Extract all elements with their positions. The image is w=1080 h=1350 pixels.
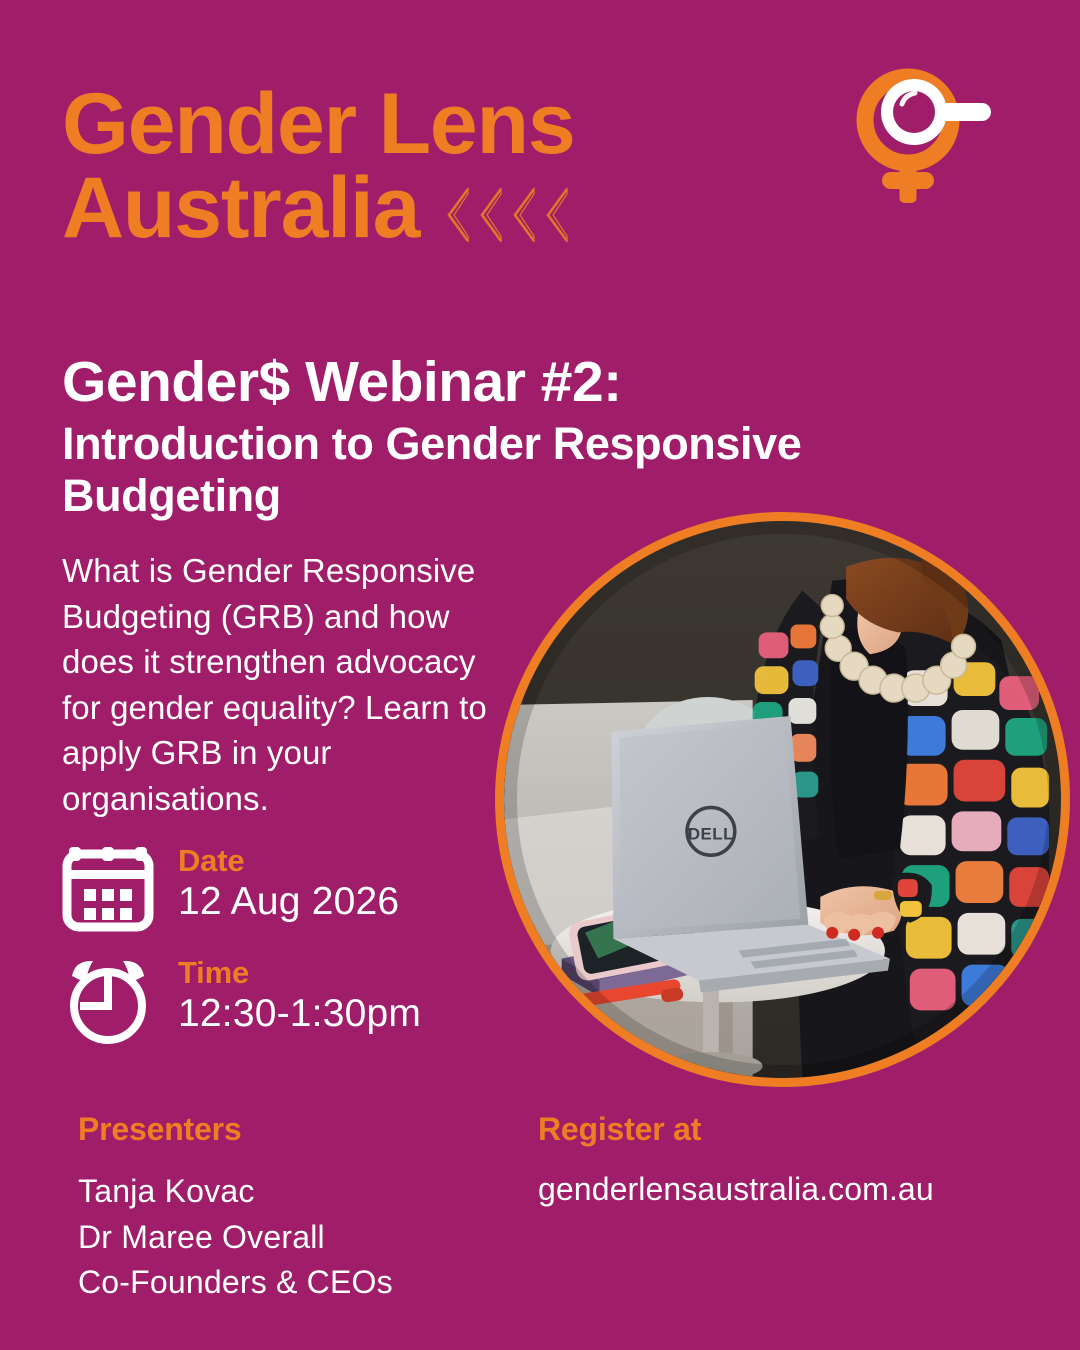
detail-row-time: Time 12:30-1:30pm — [62, 952, 492, 1046]
detail-value-date: 12 Aug 2026 — [178, 879, 399, 924]
description-text: What is Gender Responsive Budgeting (GRB… — [62, 548, 492, 821]
register-heading: Register at — [538, 1112, 1058, 1147]
calendar-icon — [62, 842, 154, 934]
webinar-photo: DELL — [504, 521, 1061, 1078]
presenters-block: Presenters Tanja Kovac Dr Maree Overall … — [78, 1112, 508, 1306]
chevron-decoration — [445, 186, 570, 244]
photo-illustration: DELL — [504, 521, 1061, 1078]
brand-header: Gender Lens Australia — [62, 82, 762, 251]
detail-label-time: Time — [178, 956, 421, 991]
presenters-list: Tanja Kovac Dr Maree Overall Co-Founders… — [78, 1169, 508, 1305]
chevron-left-icon — [544, 186, 570, 244]
detail-text-time: Time 12:30-1:30pm — [178, 952, 421, 1036]
brand-name-line2-row: Australia — [62, 166, 762, 250]
alarm-clock-icon — [62, 954, 154, 1046]
presenters-heading: Presenters — [78, 1112, 508, 1147]
webinar-flyer: Gender Lens Australia — [0, 0, 1080, 1350]
register-block: Register at genderlensaustralia.com.au — [538, 1112, 1058, 1211]
page-subtitle: Introduction to Gender Responsive Budget… — [62, 418, 902, 521]
register-url[interactable]: genderlensaustralia.com.au — [538, 1169, 1058, 1211]
detail-label-date: Date — [178, 844, 399, 879]
chevron-left-icon — [478, 186, 504, 244]
brand-name-line1: Gender Lens — [62, 82, 762, 166]
chevron-left-icon — [445, 186, 471, 244]
event-details: Date 12 Aug 2026 Time 12:30-1:30pm — [62, 840, 492, 1064]
detail-text-date: Date 12 Aug 2026 — [178, 840, 399, 924]
photo-circle-frame: DELL — [495, 512, 1070, 1087]
detail-row-date: Date 12 Aug 2026 — [62, 840, 492, 934]
detail-value-time: 12:30-1:30pm — [178, 991, 421, 1036]
chevron-left-icon — [511, 186, 537, 244]
page-title: Gender$ Webinar #2: — [62, 352, 942, 412]
headline-block: Gender$ Webinar #2: Introduction to Gend… — [62, 352, 942, 521]
venus-magnifier-logo-icon — [836, 62, 1006, 212]
svg-text:DELL: DELL — [688, 824, 734, 843]
brand-name-line2: Australia — [62, 166, 419, 250]
